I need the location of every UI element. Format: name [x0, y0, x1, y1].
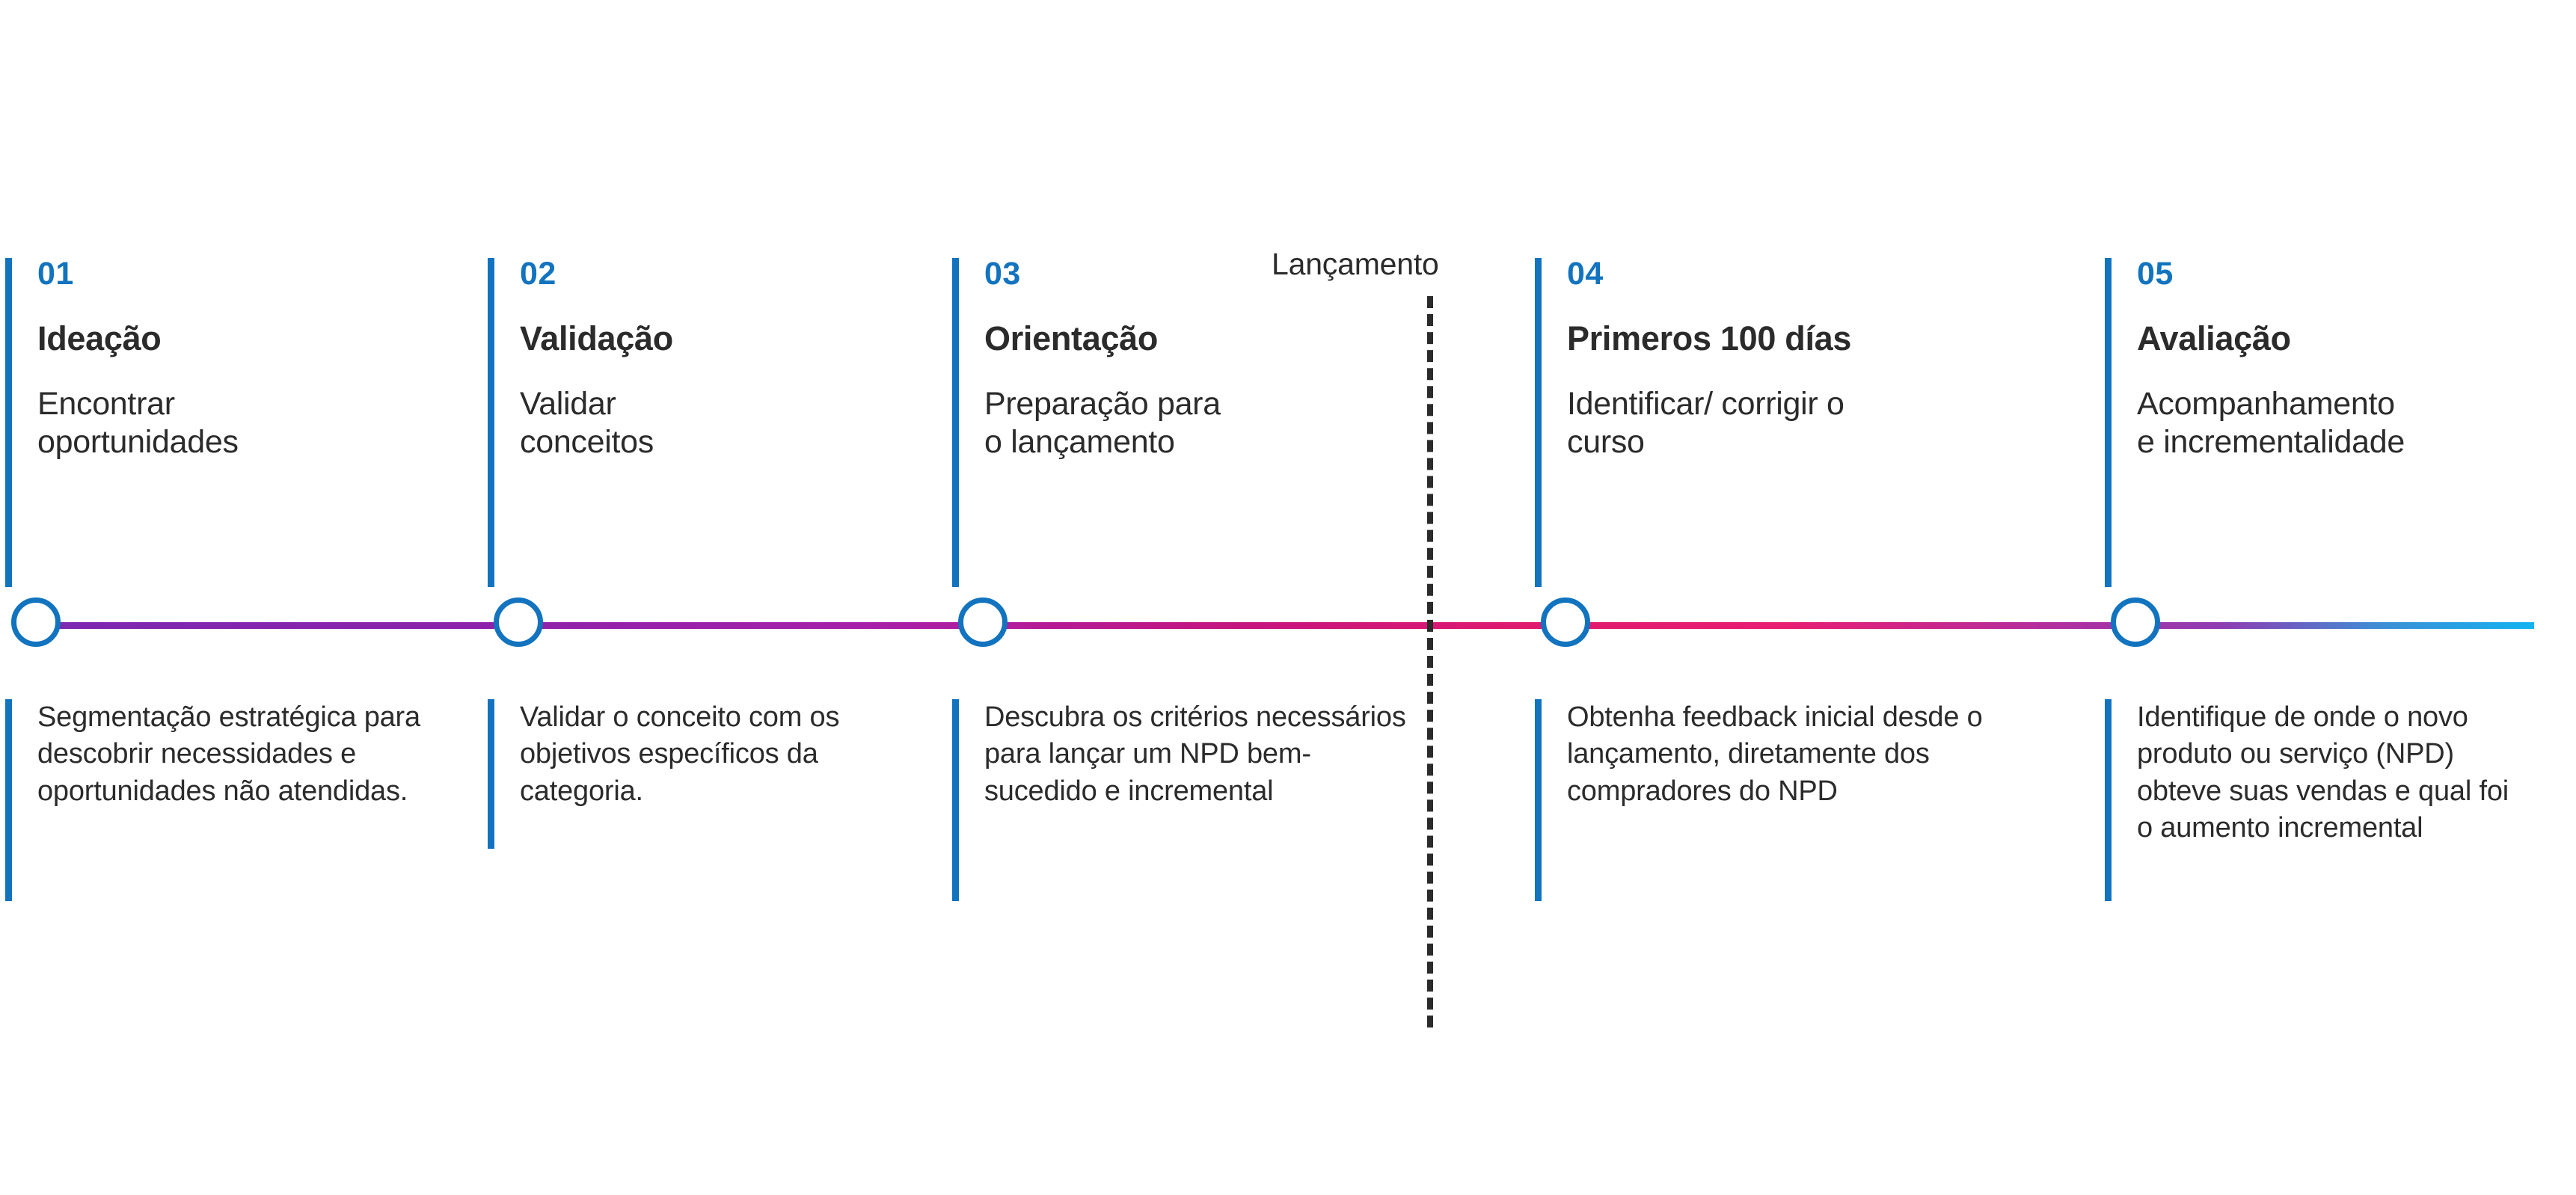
- stage-05-number: 05: [2137, 258, 2576, 290]
- stage-04-detail-block: Obtenha feedback inicial desde o lançame…: [1535, 699, 1984, 901]
- stage-03-detail: Descubra os critérios necessários para l…: [984, 699, 1423, 810]
- stage-02-header: 02 Validação Validar conceitos: [488, 258, 951, 587]
- stage-01-header: 01 Ideação Encontrar oportunidades: [5, 258, 469, 587]
- stage-05-header: 05 Avaliação Acompanhamento e incrementa…: [2105, 258, 2576, 587]
- stage-01-title: Ideação: [37, 322, 469, 355]
- stage-01-detail-block: Segmentação estratégica para descobrir n…: [5, 699, 454, 901]
- stage-04-title: Primeros 100 días: [1567, 322, 2014, 355]
- stage-05-subtitle: Acompanhamento e incrementalidade: [2137, 385, 2576, 461]
- stage-02-number: 02: [520, 258, 951, 290]
- timeline-diagram: Lançamento 01 Ideação Encontrar oportuni…: [0, 0, 2576, 1195]
- launch-divider-line: [1427, 296, 1433, 1027]
- stage-04-header: 04 Primeros 100 días Identificar/ corrig…: [1535, 258, 2014, 587]
- stage-01-subtitle: Encontrar oportunidades: [37, 385, 469, 461]
- stage-02-detail: Validar o conceito com os objetivos espe…: [520, 699, 936, 810]
- stage-01-number: 01: [37, 258, 469, 290]
- stage-03-header: 03 Orientação Preparação para o lançamen…: [952, 258, 1416, 587]
- timeline-node-02[interactable]: [494, 597, 543, 647]
- stage-01-detail: Segmentação estratégica para descobrir n…: [37, 699, 454, 810]
- stage-02-subtitle: Validar conceitos: [520, 385, 951, 461]
- stage-03-title: Orientação: [984, 322, 1416, 355]
- stage-05-detail: Identifique de onde o novo produto ou se…: [2137, 699, 2524, 847]
- timeline-node-01[interactable]: [11, 597, 61, 647]
- stage-04-number: 04: [1567, 258, 2014, 290]
- stage-02-title: Validação: [520, 322, 951, 355]
- stage-03-subtitle: Preparação para o lançamento: [984, 385, 1416, 461]
- stage-03-number: 03: [984, 258, 1416, 290]
- stage-03-detail-block: Descubra os critérios necessários para l…: [952, 699, 1423, 901]
- timeline-node-05[interactable]: [2111, 597, 2160, 647]
- timeline-node-04[interactable]: [1541, 597, 1590, 647]
- stage-04-detail: Obtenha feedback inicial desde o lançame…: [1567, 699, 1984, 810]
- timeline-node-03[interactable]: [958, 597, 1008, 647]
- stage-05-detail-block: Identifique de onde o novo produto ou se…: [2105, 699, 2524, 901]
- stage-02-detail-block: Validar o conceito com os objetivos espe…: [488, 699, 936, 849]
- stage-05-title: Avaliação: [2137, 322, 2576, 355]
- stage-04-subtitle: Identificar/ corrigir o curso: [1567, 385, 2014, 461]
